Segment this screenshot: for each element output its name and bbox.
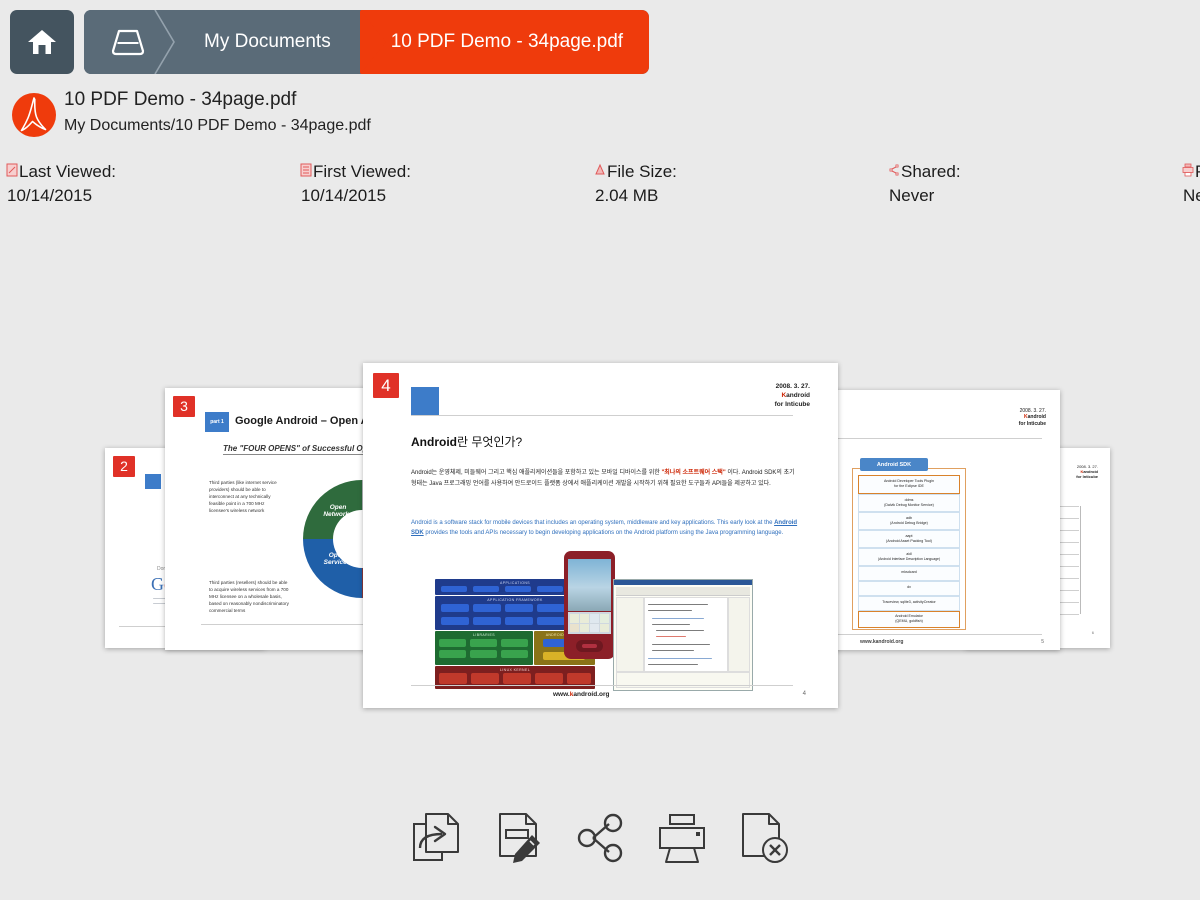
print-button[interactable] <box>641 800 723 876</box>
metadata-label: Printed: <box>1195 162 1200 182</box>
slide-body-ko-highlight: "최나의 소프트웨어 스택" <box>661 470 725 476</box>
file-name: 10 PDF Demo - 34page.pdf <box>64 88 371 112</box>
breadcrumb-trail: My Documents 10 PDF Demo - 34page.pdf <box>84 10 649 74</box>
pdf-file-icon <box>10 90 58 142</box>
breadcrumb: My Documents 10 PDF Demo - 34page.pdf <box>10 10 649 74</box>
quadrant-label: Open Services <box>315 552 359 567</box>
move-document-button[interactable] <box>395 800 477 876</box>
sdk-item-label: Android Developer Tools Plugin for the E… <box>859 476 959 489</box>
sdk-item-label: Android Emulator (QEMU, goldfish) <box>859 612 959 624</box>
share-button[interactable] <box>559 800 641 876</box>
breadcrumb-divider <box>154 10 176 74</box>
slide-body-en-2b: provides the tools and APIs necessary to… <box>424 530 655 536</box>
metadata-value: 10/14/2015 <box>300 186 594 206</box>
breadcrumb-item-my-documents[interactable]: My Documents <box>176 10 361 74</box>
first-viewed-icon <box>300 163 312 177</box>
slide-body-ko-3: 위해 필요한 도구들과 API들을 제공하고 있다. <box>657 481 771 487</box>
sdk-item-label: dx <box>859 582 959 589</box>
quadrant-label: Open Networks <box>317 504 359 519</box>
metadata-shared: Shared: Never <box>888 162 1182 206</box>
metadata-value: 10/14/2015 <box>6 186 300 206</box>
slide-body-en-1: Android is a software stack for mobile d… <box>411 520 728 526</box>
sdk-item-label: mksdcard <box>859 567 959 574</box>
slide-header-sub: for Inticube <box>1076 474 1098 479</box>
move-document-icon <box>412 812 460 864</box>
page-number-badge: 2 <box>113 456 135 477</box>
metadata-value: Never <box>1182 186 1200 206</box>
document-action-toolbar <box>0 800 1200 876</box>
metadata-printed: Printed: Never <box>1182 162 1200 206</box>
sdk-item-label: Traceview, sqlite3, activityCreator <box>859 597 959 604</box>
breadcrumb-item-drive[interactable] <box>84 10 176 74</box>
slide-footer-url: www.kandroid.org <box>860 639 903 645</box>
rename-document-icon <box>494 812 542 864</box>
metadata-label: First Viewed: <box>313 162 411 182</box>
page-number-badge: 3 <box>173 396 195 417</box>
slide-header-date: 2008. 3. 27. <box>775 383 810 392</box>
sdk-item-label: aidl (Android Interface Description Lang… <box>859 549 959 561</box>
ide-window-screenshot <box>613 579 753 691</box>
slide-body-text: Third parties (like internet service pro… <box>209 480 281 514</box>
slide-footer-page: 4 <box>803 691 806 697</box>
slide-body-text: Third parties (resellers) should be able… <box>209 580 289 614</box>
home-icon <box>27 28 57 56</box>
shared-icon <box>888 163 900 177</box>
home-button[interactable] <box>10 10 74 74</box>
print-icon <box>656 812 708 864</box>
sdk-item-label: ddms (Dalvik Debug Monitor Service) <box>859 495 959 508</box>
metadata-label: Shared: <box>901 162 961 182</box>
metadata-last-viewed: Last Viewed: 10/14/2015 <box>6 162 300 206</box>
page-thumbnail-stack: 2 Google Android Don't be evil Google 3 … <box>0 350 1200 730</box>
last-viewed-icon <box>6 163 18 177</box>
slide-header-sub: for Inticube <box>1019 421 1046 427</box>
breadcrumb-item-label: 10 PDF Demo - 34page.pdf <box>391 31 623 53</box>
slide-header-sub: for Inticube <box>775 401 810 410</box>
file-header: 10 PDF Demo - 34page.pdf My Documents/10… <box>10 88 371 142</box>
metadata-label: Last Viewed: <box>19 162 116 182</box>
delete-document-button[interactable] <box>723 800 805 876</box>
metadata-file-size: File Size: 2.04 MB <box>594 162 888 206</box>
share-icon <box>575 812 625 864</box>
sdk-item-label: aapt (Android Asset Packing Tool) <box>859 531 959 544</box>
slide-body-en-2a: early look at the <box>730 520 774 526</box>
delete-document-icon <box>739 812 789 864</box>
metadata-value: Never <box>888 186 1182 206</box>
page-thumbnail-active[interactable]: 4 2008. 3. 27. Kandroíd for Inticube And… <box>363 363 838 708</box>
page-number-badge: 4 <box>373 373 399 398</box>
printed-icon <box>1182 163 1194 177</box>
slide-heading-rest: 란 무엇인가? <box>457 435 522 449</box>
breadcrumb-arrow <box>360 10 386 74</box>
slide-body-en-3: platform using the Java programming lang… <box>656 530 783 536</box>
metadata-label: File Size: <box>607 162 677 182</box>
sdk-item-label: adb (Android Debug Bridge) <box>859 513 959 526</box>
slide-body-ko-1: Android는 운영체제, 미들웨어 그리고 핵심 애플리케이션들을 포함하고… <box>411 470 660 476</box>
breadcrumb-item-current-file[interactable]: 10 PDF Demo - 34page.pdf <box>361 10 649 74</box>
slide-footer-page: 5 <box>1041 639 1044 645</box>
slide-part-tag: part 1 <box>210 419 224 425</box>
sdk-box-title: Android SDK <box>877 462 911 468</box>
drive-icon <box>106 25 150 59</box>
metadata-value: 2.04 MB <box>594 186 888 206</box>
file-path: My Documents/10 PDF Demo - 34page.pdf <box>64 115 371 137</box>
file-metadata-row: Last Viewed: 10/14/2015 First Viewed: 10… <box>6 162 1196 206</box>
file-size-icon <box>594 163 606 177</box>
rename-document-button[interactable] <box>477 800 559 876</box>
breadcrumb-item-label: My Documents <box>204 31 331 53</box>
metadata-first-viewed: First Viewed: 10/14/2015 <box>300 162 594 206</box>
slide-heading-bold: Android <box>411 435 457 449</box>
